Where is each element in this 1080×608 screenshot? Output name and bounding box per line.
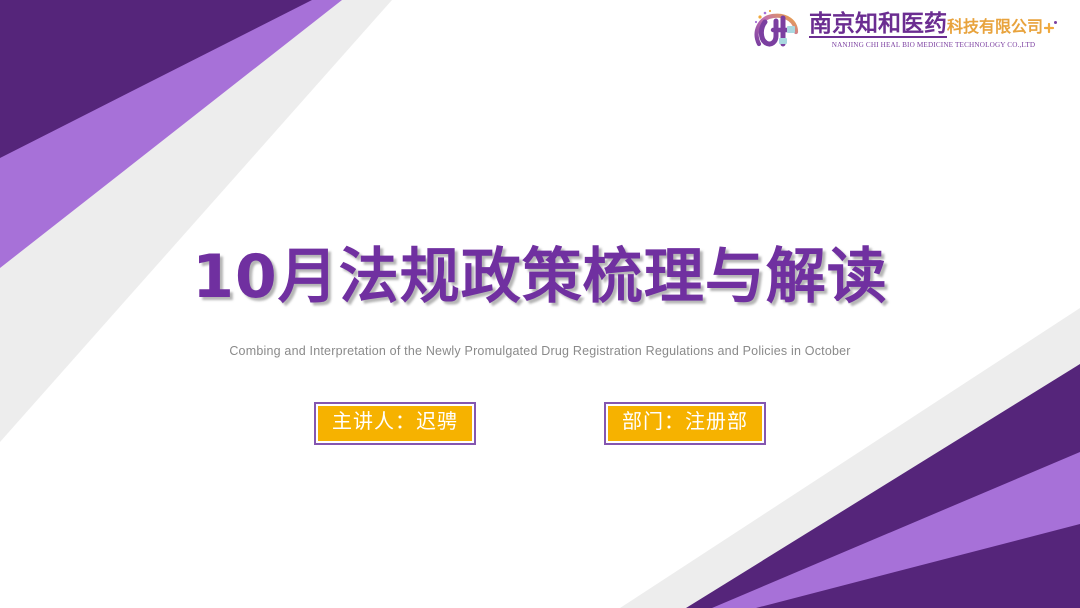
meta-badge-row: 主讲人：迟骋 部门：注册部 [0,402,1080,445]
presentation-title-slide: 南京知和医药 科技有限公司 NANJING CHI HEAL BIO MEDIC… [0,0,1080,608]
speaker-badge-label: 主讲人：迟骋 [318,406,472,441]
speaker-badge: 主讲人：迟骋 [314,402,476,445]
department-badge: 部门：注册部 [604,402,766,445]
department-badge-label: 部门：注册部 [608,406,762,441]
slide-content: 10月法规政策梳理与解读 Combing and Interpretation … [0,0,1080,608]
slide-subtitle: Combing and Interpretation of the Newly … [0,344,1080,358]
slide-title: 10月法规政策梳理与解读 [0,244,1080,310]
